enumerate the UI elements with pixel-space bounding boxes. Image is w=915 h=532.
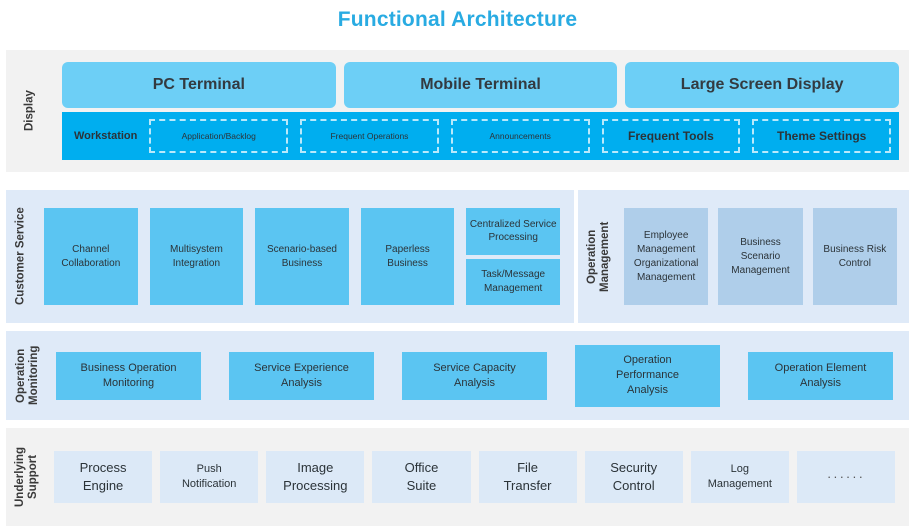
operation-management-layer-label: Operation Management: [578, 190, 620, 323]
workstation-label: Workstation: [70, 130, 143, 142]
om-box-business-scenario-management[interactable]: Business Scenario Management: [718, 208, 802, 305]
underlying-support-layer: Underlying Support Process Engine Push N…: [6, 428, 909, 526]
workstation-items: Application/Backlog Frequent Operations …: [143, 119, 891, 153]
mon-box-operation-element-analysis[interactable]: Operation Element Analysis: [748, 352, 893, 400]
display-layer-content: PC Terminal Mobile Terminal Large Screen…: [54, 50, 909, 172]
customer-service-content: Channel Collaboration Multisystem Integr…: [36, 190, 574, 323]
mon-box-business-operation-monitoring[interactable]: Business Operation Monitoring: [56, 352, 201, 400]
underlying-support-layer-label: Underlying Support: [6, 428, 48, 526]
display-layer: Display PC Terminal Mobile Terminal Larg…: [6, 50, 909, 172]
terminal-large-screen[interactable]: Large Screen Display: [625, 62, 899, 108]
terminal-mobile[interactable]: Mobile Terminal: [344, 62, 618, 108]
sup-box-push-notification[interactable]: Push Notification: [160, 451, 258, 503]
functional-architecture-diagram: Functional Architecture Display PC Termi…: [0, 0, 915, 532]
customer-service-layer: Customer Service Channel Collaboration M…: [6, 190, 574, 323]
sup-box-image-processing[interactable]: Image Processing: [266, 451, 364, 503]
om-box-employee-management[interactable]: Employee Management Organizational Manag…: [624, 208, 708, 305]
workstation-item-frequent-operations[interactable]: Frequent Operations: [300, 119, 439, 153]
mon-box-operation-performance-analysis[interactable]: Operation Performance Analysis: [575, 345, 720, 407]
customer-service-layer-label: Customer Service: [6, 190, 36, 323]
operation-monitoring-layer: Operation Monitoring Business Operation …: [6, 331, 909, 420]
workstation-item-application-backlog[interactable]: Application/Backlog: [149, 119, 288, 153]
sup-box-log-management[interactable]: Log Management: [691, 451, 789, 503]
underlying-support-content: Process Engine Push Notification Image P…: [48, 428, 909, 526]
page-title: Functional Architecture: [0, 8, 915, 32]
sup-box-ellipsis: ······: [797, 451, 895, 503]
cs-box-multisystem-integration[interactable]: Multisystem Integration: [150, 208, 244, 305]
operation-management-layer: Operation Management Employee Management…: [578, 190, 909, 323]
workstation-item-theme-settings[interactable]: Theme Settings: [752, 119, 891, 153]
operation-monitoring-content: Business Operation Monitoring Service Ex…: [50, 331, 909, 420]
cs-box-centralized-service-processing[interactable]: Centralized Service Processing: [466, 208, 560, 255]
terminal-pc[interactable]: PC Terminal: [62, 62, 336, 108]
cs-box-stack: Centralized Service Processing Task/Mess…: [466, 208, 560, 305]
operation-management-content: Employee Management Organizational Manag…: [620, 190, 909, 323]
display-layer-label: Display: [6, 50, 54, 172]
operation-monitoring-layer-label: Operation Monitoring: [6, 331, 50, 420]
sup-box-file-transfer[interactable]: File Transfer: [479, 451, 577, 503]
workstation-row: Workstation Application/Backlog Frequent…: [62, 112, 899, 160]
sup-box-security-control[interactable]: Security Control: [585, 451, 683, 503]
cs-box-channel-collaboration[interactable]: Channel Collaboration: [44, 208, 138, 305]
cs-box-scenario-based-business[interactable]: Scenario-based Business: [255, 208, 349, 305]
workstation-item-frequent-tools[interactable]: Frequent Tools: [602, 119, 741, 153]
sup-box-process-engine[interactable]: Process Engine: [54, 451, 152, 503]
om-box-business-risk-control[interactable]: Business Risk Control: [813, 208, 897, 305]
mon-box-service-experience-analysis[interactable]: Service Experience Analysis: [229, 352, 374, 400]
mon-box-service-capacity-analysis[interactable]: Service Capacity Analysis: [402, 352, 547, 400]
workstation-item-announcements[interactable]: Announcements: [451, 119, 590, 153]
cs-box-paperless-business[interactable]: Paperless Business: [361, 208, 455, 305]
terminal-row: PC Terminal Mobile Terminal Large Screen…: [62, 62, 899, 108]
cs-box-task-message-management[interactable]: Task/Message Management: [466, 259, 560, 306]
sup-box-office-suite[interactable]: Office Suite: [372, 451, 470, 503]
